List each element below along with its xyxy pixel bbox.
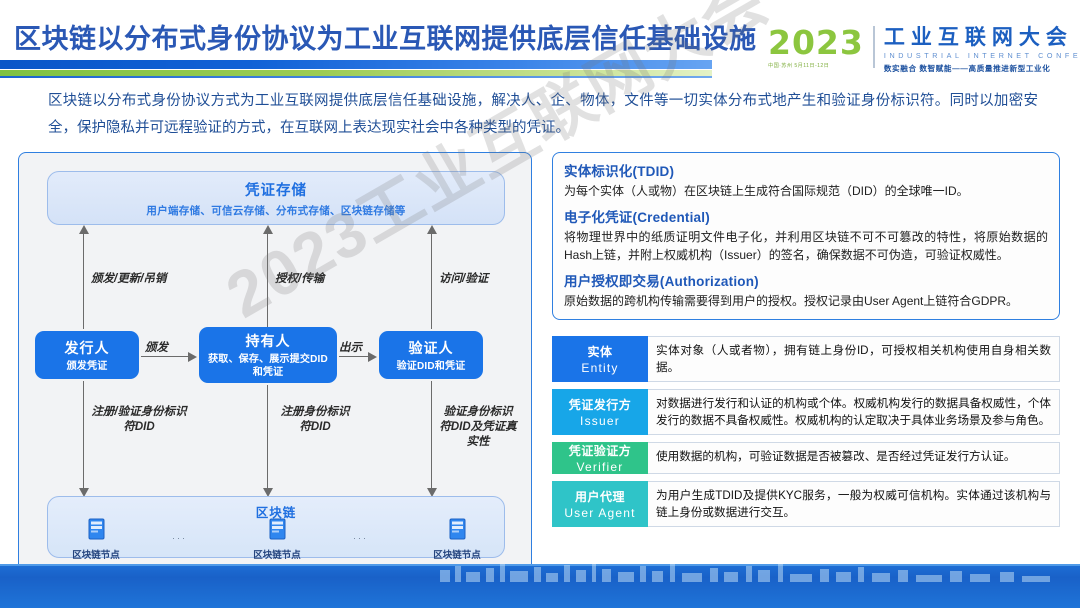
role-verifier-sub: 验证DID和凭证 xyxy=(397,360,466,373)
down-label-verify: 验证身份标识符DID及凭证真实性 xyxy=(439,405,517,450)
table-row: 实体 Entity 实体对象（人或者物），拥有链上身份ID，可授权相关机构使用自… xyxy=(552,336,1060,382)
blockchain-node-2-label: 区块链节点 xyxy=(234,547,320,561)
table-row: 凭证发行方 Issuer 对数据进行发行和认证的机构或个体。权威机构发行的数据具… xyxy=(552,389,1060,435)
definition-tdid-heading: 实体标识化(TDID) xyxy=(564,160,1048,180)
blockchain-box: 区块链 区块链节点 ··· 区块链节点 xyxy=(47,496,505,558)
node-dots-2: ··· xyxy=(353,533,368,543)
slide-header: 区块链以分布式身份协议为工业互联网提供底层信任基础设施 2023 中国·苏州 5… xyxy=(0,0,1080,84)
arrow-label-authorize: 授权/传输 xyxy=(275,270,324,286)
flow-label-issue: 颁发 xyxy=(145,339,168,355)
logo-year-block: 2023 中国·苏州 5月11日-12日 xyxy=(768,26,864,69)
role-box-holder[interactable]: 持有人 获取、保存、展示提交DID和凭证 xyxy=(199,327,337,383)
arrow-down-verify xyxy=(431,381,432,489)
header-rule-blue-thin xyxy=(0,76,712,78)
arrow-label-issue: 颁发/更新/吊销 xyxy=(91,270,166,286)
role-holder-title: 持有人 xyxy=(246,331,291,351)
logo-year-subtext: 中国·苏州 5月11日-12日 xyxy=(768,62,864,69)
definition-authorization-heading: 用户授权即交易(Authorization) xyxy=(564,270,1048,290)
flow-label-present: 出示 xyxy=(339,339,362,355)
role-key-entity-cn: 实体 xyxy=(587,343,612,360)
role-key-user-agent-en: User Agent xyxy=(564,506,635,520)
role-desc-verifier: 使用数据的机构，可验证数据是否被篡改、是否经过凭证发行方认证。 xyxy=(648,442,1060,474)
role-key-issuer-cn: 凭证发行方 xyxy=(569,396,632,413)
server-node-icon xyxy=(88,518,105,540)
role-holder-sub: 获取、保存、展示提交DID和凭证 xyxy=(204,353,332,379)
arrow-up-authorize xyxy=(267,233,268,329)
role-key-entity-en: Entity xyxy=(581,361,618,375)
definition-tdid-body: 为每个实体（人或物）在区块链上生成符合国际规范（DID）的全球唯一ID。 xyxy=(564,182,1048,200)
arrow-down-register-verify xyxy=(83,381,84,489)
role-desc-issuer: 对数据进行发行和认证的机构或个体。权威机构发行的数据具备权威性，个体发行的数据不… xyxy=(648,389,1060,435)
logo-title-cn: 工业互联网大会 xyxy=(884,26,1080,49)
role-verifier-title: 验证人 xyxy=(409,338,454,358)
flow-arrow-present xyxy=(339,356,369,357)
role-key-verifier-cn: 凭证验证方 xyxy=(569,442,632,459)
definitions-panel: 实体标识化(TDID) 为每个实体（人或物）在区块链上生成符合国际规范（DID）… xyxy=(552,152,1060,320)
definition-tdid: 实体标识化(TDID) 为每个实体（人或物）在区块链上生成符合国际规范（DID）… xyxy=(564,160,1048,200)
blockchain-node-3: 区块链节点 xyxy=(414,518,500,561)
logo-text-block: 工业互联网大会 INDUSTRIAL INTERNET CONFERENCE 数… xyxy=(884,26,1080,74)
blockchain-node-1-label: 区块链节点 xyxy=(53,547,139,561)
definition-authorization: 用户授权即交易(Authorization) 原始数据的跨机构传输需要得到用户的… xyxy=(564,270,1048,310)
server-node-icon xyxy=(449,518,466,540)
role-table: 实体 Entity 实体对象（人或者物），拥有链上身份ID，可授权相关机构使用自… xyxy=(552,336,1060,576)
slide-page: 区块链以分布式身份协议为工业互联网提供底层信任基础设施 2023 中国·苏州 5… xyxy=(0,0,1080,608)
role-box-issuer[interactable]: 发行人 颁发凭证 xyxy=(35,331,139,379)
role-key-verifier-en: Verifier xyxy=(577,460,624,474)
flow-arrow-issue xyxy=(141,356,189,357)
page-title: 区块链以分布式身份协议为工业互联网提供底层信任基础设施 xyxy=(14,17,757,56)
role-box-verifier[interactable]: 验证人 验证DID和凭证 xyxy=(379,331,483,379)
arrow-down-register xyxy=(267,385,268,489)
slide-footer xyxy=(0,564,1080,608)
down-label-register-verify: 注册/验证身份标识符DID xyxy=(91,405,187,435)
logo-slogan: 数实融合 数智赋能——高质量推进新型工业化 xyxy=(884,63,1080,74)
arrow-up-access xyxy=(431,233,432,329)
node-dots-1: ··· xyxy=(172,533,187,543)
definition-credential: 电子化凭证(Credential) 将物理世界中的纸质证明文件电子化，并利用区块… xyxy=(564,206,1048,264)
role-desc-entity: 实体对象（人或者物），拥有链上身份ID，可授权相关机构使用自身相关数据。 xyxy=(648,336,1060,382)
server-node-icon xyxy=(269,518,286,540)
definition-authorization-body: 原始数据的跨机构传输需要得到用户的授权。授权记录由User Agent上链符合G… xyxy=(564,292,1048,310)
blockchain-node-1: 区块链节点 xyxy=(53,518,139,561)
role-key-user-agent: 用户代理 User Agent xyxy=(552,481,648,527)
role-key-verifier: 凭证验证方 Verifier xyxy=(552,442,648,474)
role-desc-user-agent: 为用户生成TDID及提供KYC服务，一般为权威可信机构。实体通过该机构与链上身份… xyxy=(648,481,1060,527)
down-label-register: 注册身份标识符DID xyxy=(275,405,355,435)
role-issuer-title: 发行人 xyxy=(65,338,110,358)
blockchain-node-2: 区块链节点 xyxy=(234,518,320,561)
credential-storage-box: 凭证存储 用户端存储、可信云存储、分布式存储、区块链存储等 xyxy=(47,171,505,225)
logo-year: 2023 xyxy=(768,26,864,60)
role-issuer-sub: 颁发凭证 xyxy=(67,360,108,373)
table-row: 用户代理 User Agent 为用户生成TDID及提供KYC服务，一般为权威可… xyxy=(552,481,1060,527)
conference-logo: 2023 中国·苏州 5月11日-12日 工业互联网大会 INDUSTRIAL … xyxy=(768,26,1080,74)
role-key-user-agent-cn: 用户代理 xyxy=(575,488,625,505)
logo-divider xyxy=(873,26,875,68)
arrow-label-access: 访问/验证 xyxy=(439,270,488,286)
arrow-up-issue xyxy=(83,233,84,329)
definition-credential-heading: 电子化凭证(Credential) xyxy=(564,206,1048,226)
table-row: 凭证验证方 Verifier 使用数据的机构，可验证数据是否被篡改、是否经过凭证… xyxy=(552,442,1060,474)
city-skyline-icon xyxy=(0,564,1080,582)
logo-title-en: INDUSTRIAL INTERNET CONFERENCE xyxy=(884,51,1080,60)
intro-paragraph: 区块链以分布式身份协议方式为工业互联网提供底层信任基础设施，解决人、企、物体，文… xyxy=(48,88,1038,142)
credential-storage-subtitle: 用户端存储、可信云存储、分布式存储、区块链存储等 xyxy=(146,203,405,218)
blockchain-node-3-label: 区块链节点 xyxy=(414,547,500,561)
role-key-entity: 实体 Entity xyxy=(552,336,648,382)
role-key-issuer-en: Issuer xyxy=(580,414,620,428)
definition-credential-body: 将物理世界中的纸质证明文件电子化，并利用区块链不可不可篡改的特性，将原始数据的H… xyxy=(564,228,1048,264)
header-rule-blue xyxy=(0,60,712,69)
role-key-issuer: 凭证发行方 Issuer xyxy=(552,389,648,435)
trust-architecture-diagram: 凭证存储 用户端存储、可信云存储、分布式存储、区块链存储等 颁发/更新/吊销 授… xyxy=(18,152,532,580)
credential-storage-title: 凭证存储 xyxy=(245,179,307,200)
